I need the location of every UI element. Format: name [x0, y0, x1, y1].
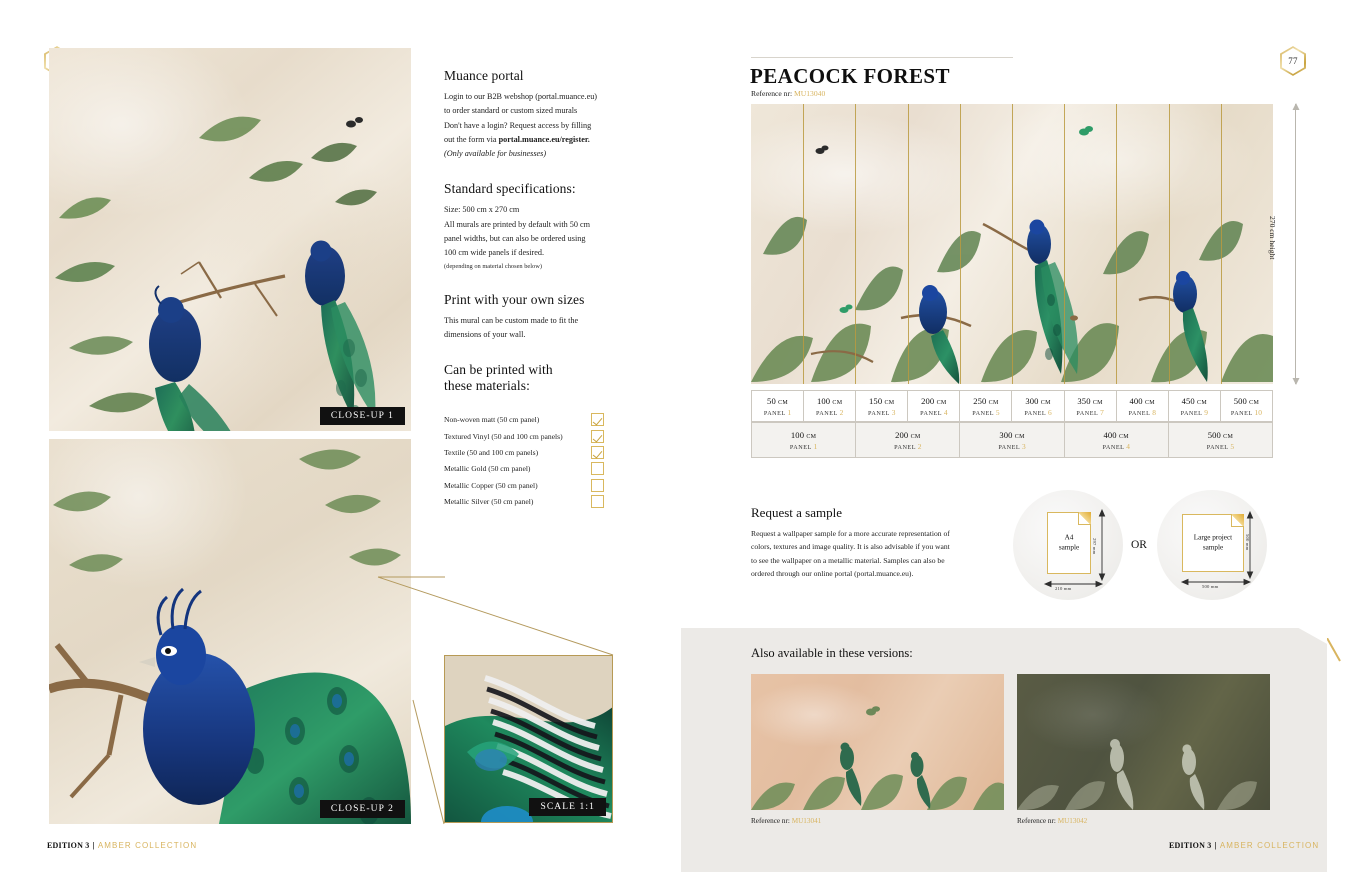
- panel-table-50cm: 50 CM PANEL 1 100 CM PANEL 2 150 CM PANE…: [751, 390, 1273, 422]
- page-number-badge-right: 77: [1280, 46, 1306, 76]
- specs-line-1: All murals are printed by default with 5…: [444, 218, 619, 232]
- panel-cell[interactable]: 200 CM PANEL 2: [856, 423, 960, 457]
- closeup-1-label: CLOSE-UP 1: [320, 407, 405, 425]
- portal-note: (Only available for businesses): [444, 147, 619, 161]
- version-1-ref-value: MU13041: [792, 817, 822, 825]
- panel-cell[interactable]: 400 CM PANEL 4: [1065, 423, 1169, 457]
- panel-size: 200 CM: [921, 396, 946, 406]
- material-row[interactable]: Metallic Gold (50 cm panel): [444, 462, 604, 475]
- panel-size: 400 CM: [1104, 430, 1129, 440]
- material-row[interactable]: Metallic Copper (50 cm panel): [444, 479, 604, 492]
- specs-line-3: 100 cm wide panels if desired.: [444, 246, 619, 260]
- panel-divider-line: [1221, 104, 1222, 384]
- material-label: Metallic Gold (50 cm panel): [444, 464, 530, 473]
- footer-right: EDITION 3 | AMBER COLLECTION: [1169, 841, 1319, 850]
- panel-number: PANEL 7: [1076, 408, 1103, 417]
- specs-size: Size: 500 cm x 270 cm: [444, 203, 619, 217]
- version-2-ref-label: Reference nr:: [1017, 817, 1056, 825]
- arrow-caps-icon: [1292, 103, 1300, 385]
- panel-size: 50 CM: [767, 396, 788, 406]
- panel-divider-line: [1116, 104, 1117, 384]
- panel-number: PANEL 3: [998, 442, 1025, 451]
- version-image-1[interactable]: [751, 674, 1004, 810]
- closeup-1-image[interactable]: CLOSE-UP 1: [49, 48, 411, 431]
- a4-dimension-arrows-icon: [1040, 506, 1112, 588]
- portal-paragraph: Login to our B2B webshop (portal.muance.…: [444, 90, 619, 161]
- heading-request-a-sample: Request a sample: [751, 505, 842, 521]
- heading-muance-portal: Muance portal: [444, 68, 619, 84]
- version-2-illustration: [1017, 674, 1270, 810]
- sample-line-2: colors, textures and image quality. It i…: [751, 540, 979, 553]
- ownsizes-line-1: This mural can be custom made to fit the: [444, 314, 619, 328]
- page-title: PEACOCK FOREST: [750, 64, 950, 89]
- material-label: Non-woven matt (50 cm panel): [444, 415, 539, 424]
- peacock-scene-illustration: [49, 48, 411, 431]
- reference-line: Reference nr: MU13040: [751, 89, 825, 98]
- footer-separator: |: [1214, 841, 1217, 850]
- mural-preview-image[interactable]: [751, 104, 1273, 384]
- material-label: Metallic Silver (50 cm panel): [444, 497, 533, 506]
- panel-number: PANEL 5: [972, 408, 999, 417]
- panel-cell[interactable]: 500 CM PANEL 5: [1169, 423, 1272, 457]
- panel-divider-line: [855, 104, 856, 384]
- portal-line-1: Login to our B2B webshop (portal.muance.…: [444, 90, 619, 104]
- panel-cell[interactable]: 200 CM PANEL 4: [908, 391, 960, 421]
- specs-line-2: panel widths, but can also be ordered us…: [444, 232, 619, 246]
- peacock-macro-illustration: [49, 439, 411, 824]
- ownsizes-line-2: dimensions of your wall.: [444, 328, 619, 342]
- panel-cell[interactable]: 150 CM PANEL 3: [856, 391, 908, 421]
- version-image-2[interactable]: [1017, 674, 1270, 810]
- panel-number: PANEL 10: [1231, 408, 1262, 417]
- checkbox-checked-icon[interactable]: [591, 413, 604, 426]
- panel-number: PANEL 4: [920, 408, 947, 417]
- reference-value: MU13040: [794, 89, 825, 98]
- height-label: 270 cm height: [1268, 216, 1277, 259]
- materials-heading-line-2: these materials:: [444, 378, 530, 393]
- panel-size: 100 CM: [791, 430, 816, 440]
- panel-number: PANEL 8: [1129, 408, 1156, 417]
- material-row[interactable]: Textile (50 and 100 cm panels): [444, 446, 604, 459]
- version-2-reference: Reference nr: MU13042: [1017, 817, 1087, 825]
- panel-size: 300 CM: [999, 430, 1024, 440]
- material-row[interactable]: Metallic Silver (50 cm panel): [444, 495, 604, 508]
- or-separator: OR: [1131, 539, 1147, 551]
- panel-cell[interactable]: 50 CM PANEL 1: [752, 391, 804, 421]
- checkbox-checked-icon[interactable]: [591, 446, 604, 459]
- panel-cell[interactable]: 500 CM PANEL 10: [1221, 391, 1272, 421]
- version-1-illustration: [751, 674, 1004, 810]
- panel-cell[interactable]: 250 CM PANEL 5: [960, 391, 1012, 421]
- checkbox-unchecked-icon[interactable]: [591, 479, 604, 492]
- ownsizes-paragraph: This mural can be custom made to fit the…: [444, 314, 619, 343]
- checkbox-unchecked-icon[interactable]: [591, 495, 604, 508]
- panel-number: PANEL 6: [1024, 408, 1051, 417]
- panel-size: 500 CM: [1234, 396, 1259, 406]
- heading-standard-specifications: Standard specifications:: [444, 181, 619, 197]
- portal-line-4-prefix: out the form via: [444, 135, 499, 144]
- request-sample-paragraph: Request a wallpaper sample for a more ac…: [751, 527, 979, 580]
- panel-number: PANEL 2: [894, 442, 921, 451]
- a4-width-dim: 210 mm: [1055, 586, 1071, 591]
- reference-label: Reference nr:: [751, 89, 792, 98]
- footer-edition: EDITION 3: [1169, 841, 1211, 850]
- sample-line-1: Request a wallpaper sample for a more ac…: [751, 527, 979, 540]
- footer-left: EDITION 3 | AMBER COLLECTION: [47, 841, 197, 850]
- panel-size: 300 CM: [1025, 396, 1050, 406]
- portal-line-4: out the form via portal.muance.eu/regist…: [444, 133, 619, 147]
- materials-heading-line-1: Can be printed with: [444, 362, 553, 377]
- panel-cell[interactable]: 350 CM PANEL 7: [1065, 391, 1117, 421]
- panel-size: 400 CM: [1130, 396, 1155, 406]
- checkbox-unchecked-icon[interactable]: [591, 462, 604, 475]
- footer-edition: EDITION 3: [47, 841, 89, 850]
- panel-divider-line: [803, 104, 804, 384]
- panel-size: 250 CM: [973, 396, 998, 406]
- portal-register-link[interactable]: portal.muance.eu/register.: [499, 135, 590, 144]
- catalog-spread: 76: [0, 0, 1356, 872]
- material-label: Metallic Copper (50 cm panel): [444, 481, 538, 490]
- scale-label: SCALE 1:1: [529, 798, 606, 816]
- panel-cell[interactable]: 300 CM PANEL 3: [960, 423, 1064, 457]
- panel-number: PANEL 9: [1181, 408, 1208, 417]
- panel-cell[interactable]: 450 CM PANEL 9: [1169, 391, 1221, 421]
- height-dimension-arrow: [1295, 104, 1297, 384]
- panel-size: 200 CM: [895, 430, 920, 440]
- panel-size: 450 CM: [1182, 396, 1207, 406]
- panel-divider-line: [1169, 104, 1170, 384]
- specs-note: (depending on material chosen below): [444, 261, 619, 272]
- scale-1-1-image[interactable]: SCALE 1:1: [444, 655, 613, 823]
- material-label: Textured Vinyl (50 and 100 cm panels): [444, 432, 563, 441]
- large-dimension-arrows-icon: [1176, 508, 1266, 590]
- portal-line-3: Don't have a login? Request access by fi…: [444, 119, 619, 133]
- panel-cell[interactable]: 300 CM PANEL 6: [1012, 391, 1064, 421]
- panel-divider-line: [908, 104, 909, 384]
- material-row[interactable]: Textured Vinyl (50 and 100 cm panels): [444, 430, 604, 443]
- material-label: Textile (50 and 100 cm panels): [444, 448, 538, 457]
- version-1-ref-label: Reference nr:: [751, 817, 790, 825]
- closeup-2-label: CLOSE-UP 2: [320, 800, 405, 818]
- panel-table-100cm: 100 CM PANEL 1 200 CM PANEL 2 300 CM PAN…: [751, 422, 1273, 458]
- panel-size: 350 CM: [1077, 396, 1102, 406]
- version-2-ref-value: MU13042: [1058, 817, 1088, 825]
- panel-cell[interactable]: 100 CM PANEL 1: [752, 423, 856, 457]
- panel-cell[interactable]: 100 CM PANEL 2: [804, 391, 856, 421]
- materials-list: Non-woven matt (50 cm panel) Textured Vi…: [444, 413, 619, 508]
- footer-separator: |: [92, 841, 95, 850]
- panel-number: PANEL 1: [764, 408, 791, 417]
- sample-line-4: ordered through our online portal (porta…: [751, 567, 979, 580]
- footer-collection: AMBER COLLECTION: [98, 841, 197, 850]
- panel-cell[interactable]: 400 CM PANEL 8: [1117, 391, 1169, 421]
- corner-fold-icon: [1327, 638, 1341, 662]
- panel-size: 150 CM: [869, 396, 894, 406]
- panel-number: PANEL 5: [1207, 442, 1234, 451]
- heading-other-versions: Also available in these versions:: [751, 646, 913, 661]
- panel-size: 100 CM: [817, 396, 842, 406]
- checkbox-checked-icon[interactable]: [591, 430, 604, 443]
- panel-size: 500 CM: [1208, 430, 1233, 440]
- large-width-dim: 500 mm: [1202, 584, 1218, 589]
- a4-height-dim: 297 mm: [1092, 538, 1097, 554]
- panel-divider-line: [1064, 104, 1065, 384]
- panel-number: PANEL 1: [790, 442, 817, 451]
- portal-line-2: to order standard or custom sized murals: [444, 104, 619, 118]
- panel-divider-line: [1012, 104, 1013, 384]
- panel-number: PANEL 4: [1103, 442, 1130, 451]
- sample-line-3: to see the wallpaper on a metallic mater…: [751, 554, 979, 567]
- specs-paragraph: Size: 500 cm x 270 cm All murals are pri…: [444, 203, 619, 271]
- material-row[interactable]: Non-woven matt (50 cm panel): [444, 413, 604, 426]
- left-text-column: Muance portal Login to our B2B webshop (…: [444, 68, 619, 512]
- title-rule: [751, 57, 1013, 58]
- panel-divider-line: [960, 104, 961, 384]
- left-page: 76: [0, 0, 678, 872]
- panel-number: PANEL 2: [816, 408, 843, 417]
- large-height-dim: 500 mm: [1245, 534, 1250, 550]
- closeup-2-image[interactable]: CLOSE-UP 2: [49, 439, 411, 824]
- version-1-reference: Reference nr: MU13041: [751, 817, 821, 825]
- heading-print-own-sizes: Print with your own sizes: [444, 292, 619, 308]
- heading-materials: Can be printed with these materials:: [444, 362, 619, 394]
- panel-number: PANEL 3: [868, 408, 895, 417]
- footer-collection: AMBER COLLECTION: [1220, 841, 1319, 850]
